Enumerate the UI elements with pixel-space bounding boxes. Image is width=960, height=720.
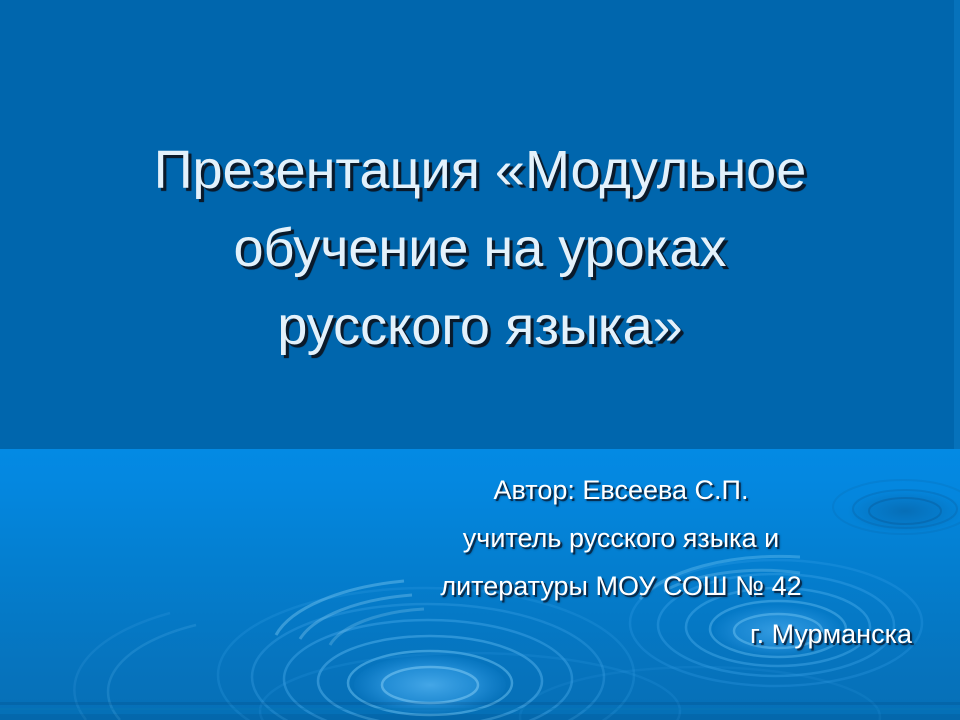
bottom-hairline-2 xyxy=(0,708,960,710)
subtitle-role-line-1: учитель русского языка и xyxy=(330,514,912,562)
presentation-slide: Презентация «Модульное обучение на урока… xyxy=(0,0,960,720)
bottom-hairline-3 xyxy=(0,714,960,720)
subtitle-city: г. Мурманска xyxy=(330,610,912,658)
title-line-1: Презентация «Модульное xyxy=(48,131,912,209)
bottom-hairline-1 xyxy=(0,702,960,705)
subtitle-role-line-2: литературы МОУ СОШ № 42 xyxy=(330,562,912,610)
subtitle-author: Автор: Евсеева С.П. xyxy=(330,466,912,514)
title-line-3: русского языка» xyxy=(48,287,912,365)
slide-title: Презентация «Модульное обучение на урока… xyxy=(48,131,912,365)
slide-subtitle: Автор: Евсеева С.П. учитель русского язы… xyxy=(330,466,912,658)
title-line-2: обучение на уроках xyxy=(48,209,912,287)
slide-upper-background-right-edge xyxy=(954,0,960,449)
